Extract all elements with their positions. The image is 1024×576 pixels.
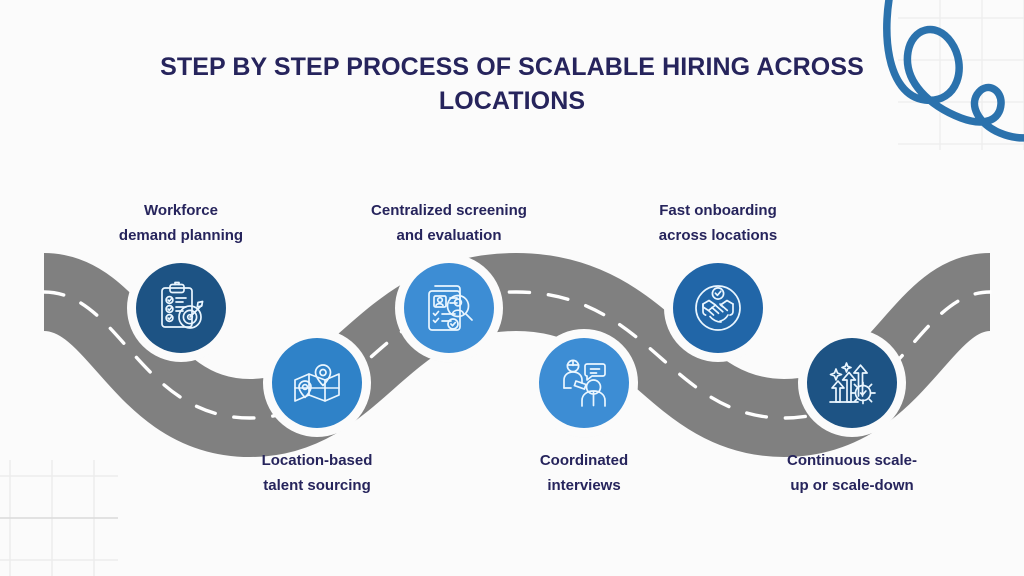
growth-arrows-gear-icon: [824, 355, 880, 411]
step-circle-1[interactable]: [136, 263, 226, 353]
step-circle-3[interactable]: [404, 263, 494, 353]
handshake-check-icon: [690, 280, 746, 336]
step-label-1: Workforcedemand planning: [66, 198, 296, 248]
step-label-3-line-1: Centralized screening: [334, 198, 564, 223]
step-label-5-line-1: Fast onboarding: [603, 198, 833, 223]
step-label-6-line-2: up or scale-down: [737, 473, 967, 498]
step-label-4-line-2: interviews: [469, 473, 699, 498]
map-pins-icon: [289, 355, 345, 411]
step-label-5-line-2: across locations: [603, 223, 833, 248]
step-label-5: Fast onboardingacross locations: [603, 198, 833, 248]
step-circle-6[interactable]: [807, 338, 897, 428]
step-label-2: Location-basedtalent sourcing: [202, 448, 432, 498]
step-label-4: Coordinatedinterviews: [469, 448, 699, 498]
clipboard-target-icon: [153, 280, 209, 336]
step-label-1-line-2: demand planning: [66, 223, 296, 248]
step-circle-2[interactable]: [272, 338, 362, 428]
step-circle-5[interactable]: [673, 263, 763, 353]
step-label-3-line-2: and evaluation: [334, 223, 564, 248]
interview-people-icon: [556, 355, 612, 411]
step-label-2-line-1: Location-based: [202, 448, 432, 473]
step-label-3: Centralized screeningand evaluation: [334, 198, 564, 248]
infographic-canvas: STEP BY STEP PROCESS OF SCALABLE HIRING …: [0, 0, 1024, 576]
step-label-1-line-1: Workforce: [66, 198, 296, 223]
step-label-6-line-1: Continuous scale-: [737, 448, 967, 473]
step-label-6: Continuous scale-up or scale-down: [737, 448, 967, 498]
step-circle-4[interactable]: [539, 338, 629, 428]
step-label-4-line-1: Coordinated: [469, 448, 699, 473]
step-label-2-line-2: talent sourcing: [202, 473, 432, 498]
resume-magnifier-icon: [421, 280, 477, 336]
